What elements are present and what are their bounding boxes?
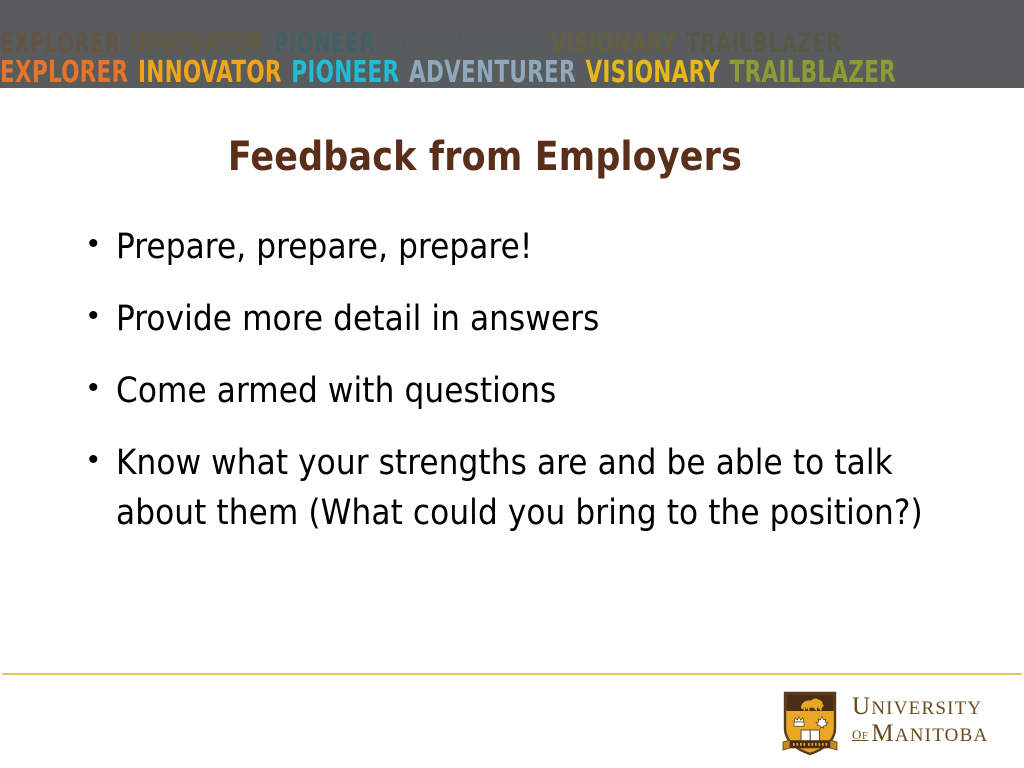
bullet-text: Prepare, prepare, prepare! — [116, 222, 985, 272]
footer-divider-rule — [2, 673, 1022, 675]
header-keyword-visionary: VISIONARY — [585, 58, 720, 88]
wordmark-line-manitoba: OFMANITOBA — [852, 721, 988, 748]
header-ghost-keyword-innovator: INNOVATOR — [130, 30, 264, 57]
header-keyword-row: EXPLORERINNOVATORPIONEERADVENTURERVISION… — [0, 58, 906, 88]
header-ghost-keyword-trailblazer: TRAILBLAZER — [686, 30, 842, 57]
header-keyword-explorer: EXPLORER — [0, 58, 128, 88]
bullet-item: •Come armed with questions — [84, 366, 994, 416]
page-title: Feedback from Employers — [15, 134, 956, 180]
wordmark-university-rest: NIVERSITY — [871, 698, 982, 719]
header-banner: EXPLORERINNOVATORPIONEERADVENTURERVISION… — [0, 0, 1024, 88]
university-logo: UNIVERSITY OFMANITOBA — [782, 690, 1018, 760]
header-keyword-innovator: INNOVATOR — [138, 58, 282, 88]
bullet-list: •Prepare, prepare, prepare!•Provide more… — [84, 222, 994, 560]
bullet-text: Come armed with questions — [116, 366, 985, 416]
crest-shield-icon — [782, 690, 838, 756]
bullet-text: Know what your strengths are and be able… — [116, 438, 985, 538]
bullet-item: •Know what your strengths are and be abl… — [84, 438, 994, 538]
bullet-text: Provide more detail in answers — [116, 294, 985, 344]
bullet-marker-icon: • — [84, 438, 116, 482]
wordmark-of: OF — [852, 727, 868, 742]
header-ghost-keyword-adventurer: ADVENTURER — [385, 30, 541, 57]
bullet-item: •Prepare, prepare, prepare! — [84, 222, 994, 272]
header-keyword-adventurer: ADVENTURER — [409, 58, 576, 88]
bullet-marker-icon: • — [84, 294, 116, 338]
header-ghost-keyword-visionary: VISIONARY — [550, 30, 676, 57]
header-ghost-keyword-explorer: EXPLORER — [0, 30, 120, 57]
bullet-marker-icon: • — [84, 366, 116, 410]
university-wordmark: UNIVERSITY OFMANITOBA — [852, 694, 988, 747]
header-keyword-pioneer: PIONEER — [291, 58, 399, 88]
wordmark-u: U — [852, 693, 871, 720]
header-ghost-text-row: EXPLORERINNOVATORPIONEERADVENTURERVISION… — [0, 30, 852, 57]
wordmark-manitoba-rest: ANITOBA — [895, 725, 989, 746]
bullet-marker-icon: • — [84, 222, 116, 266]
header-ghost-keyword-pioneer: PIONEER — [274, 30, 375, 57]
header-keyword-trailblazer: TRAILBLAZER — [730, 58, 896, 88]
bullet-item: •Provide more detail in answers — [84, 294, 994, 344]
slide-canvas: EXPLORERINNOVATORPIONEERADVENTURERVISION… — [0, 0, 1024, 768]
wordmark-m: M — [871, 720, 894, 747]
wordmark-line-university: UNIVERSITY — [852, 694, 988, 721]
